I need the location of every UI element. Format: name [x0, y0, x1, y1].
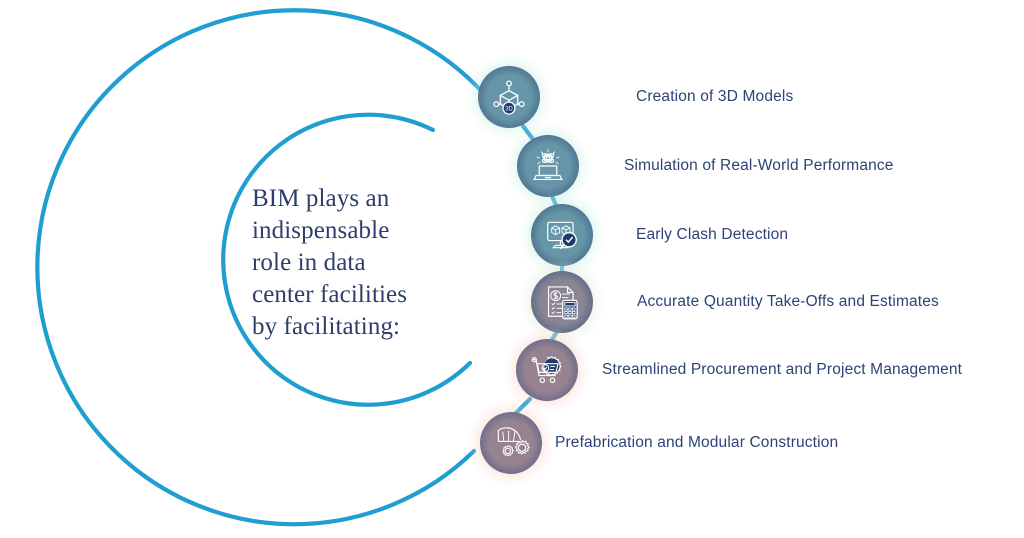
cart-gear-check-icon	[528, 351, 566, 389]
step-item-6[interactable]: Prefabrication and Modular Construction	[480, 412, 838, 474]
step-node-6[interactable]	[480, 412, 542, 474]
infographic-canvas: 3D Creation of 3D Models	[0, 0, 1024, 538]
step-label-2: Simulation of Real-World Performance	[624, 157, 894, 175]
headline-text: BIM plays an indispensable role in data …	[252, 183, 467, 343]
step-label-3: Early Clash Detection	[636, 226, 788, 244]
monitor-magnifier-check-icon	[543, 216, 581, 254]
step-label-4: Accurate Quantity Take-Offs and Estimate…	[637, 293, 939, 311]
step-item-1[interactable]: 3D Creation of 3D Models	[478, 66, 793, 128]
step-node-5[interactable]	[516, 339, 578, 401]
step-item-2[interactable]: Simulation of Real-World Performance	[517, 135, 894, 197]
invoice-calculator-icon	[543, 283, 581, 321]
cube-3d-badge-text: 3D	[505, 106, 513, 112]
step-item-3[interactable]: Early Clash Detection	[531, 204, 788, 266]
step-item-5[interactable]: Streamlined Procurement and Project Mana…	[516, 339, 962, 401]
step-node-1[interactable]: 3D	[478, 66, 540, 128]
cube-3d-icon: 3D	[490, 78, 528, 116]
step-node-2[interactable]	[517, 135, 579, 197]
step-label-6: Prefabrication and Modular Construction	[555, 434, 838, 452]
factory-gears-icon	[492, 424, 530, 462]
step-node-3[interactable]	[531, 204, 593, 266]
step-label-1: Creation of 3D Models	[636, 88, 793, 106]
step-item-4[interactable]: Accurate Quantity Take-Offs and Estimate…	[531, 271, 939, 333]
laptop-gear-simulation-icon	[529, 147, 567, 185]
step-node-4[interactable]	[531, 271, 593, 333]
step-label-5: Streamlined Procurement and Project Mana…	[602, 361, 962, 379]
